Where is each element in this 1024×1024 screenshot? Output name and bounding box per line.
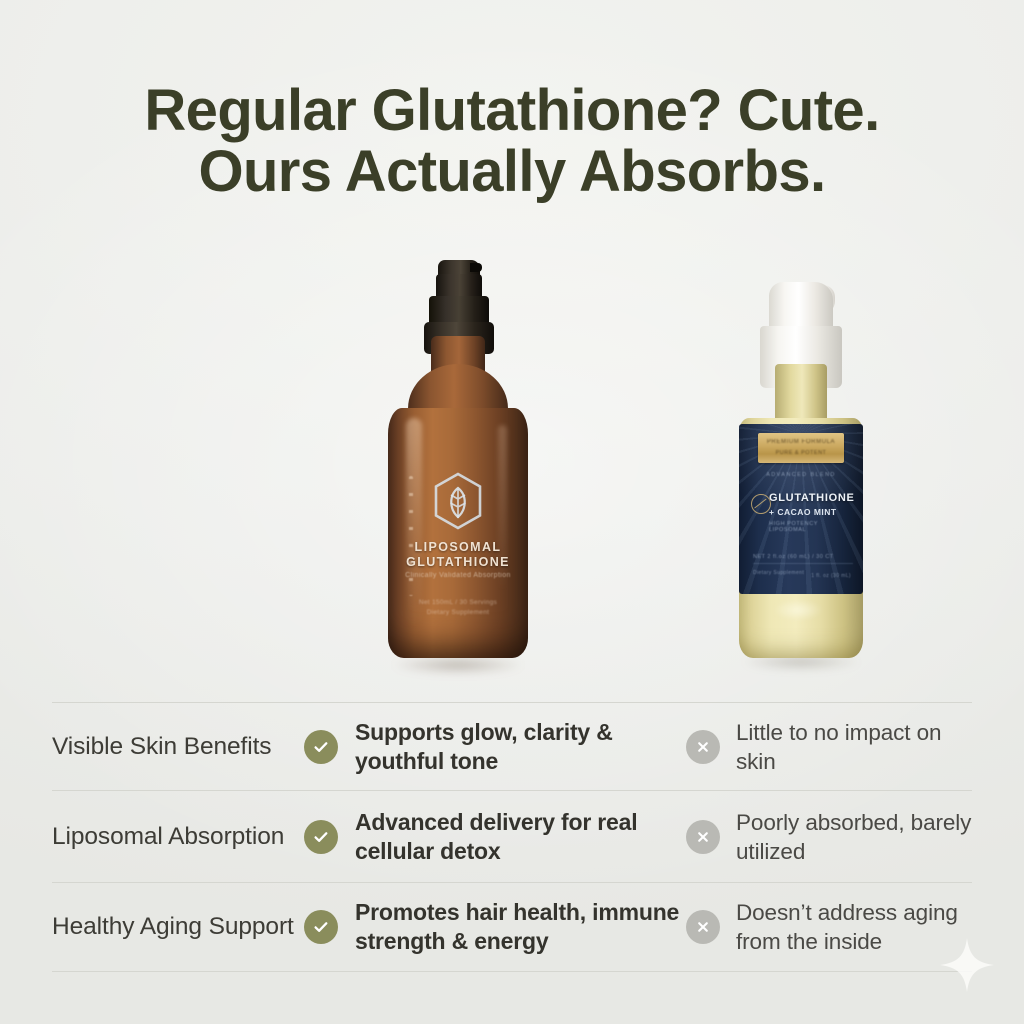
product-name-line2-ours: GLUTATHIONE [406,555,510,569]
theirs-drawback-text: Poorly absorbed, barely utilized [736,808,972,866]
bottle-highlight-right-ours [498,425,507,620]
fineprint-line2-ours: Dietary Supplement [427,609,489,616]
cross-icon [686,820,720,854]
fineprint-line1-ours: Net 150mL / 30 Servings [419,599,497,606]
product-bottle-ours: LIPOSOMAL GLUTATHIONE Clinically Validat… [386,260,530,680]
product-name-line1-ours: LIPOSOMAL [415,540,502,554]
no-symbol-icon [751,494,771,514]
ours-benefit-text: Promotes hair health, immune strength & … [355,898,686,956]
product-fineprint-ours: Net 150mL / 30 Servings Dietary Suppleme… [386,598,530,618]
sparkle-icon [938,936,996,994]
product-fineprint2-theirs: Dietary Supplement [753,570,804,577]
pump-top-theirs [769,282,833,332]
ours-cell: Advanced delivery for real cellular deto… [304,808,686,866]
ours-benefit-text: Supports glow, clarity & youthful tone [355,718,686,776]
product-stage: LIPOSOMAL GLUTATHIONE Clinically Validat… [0,240,1024,680]
product-subtext-theirs: HIGH POTENCY LIPOSOMAL [769,521,857,533]
product-name-theirs: GLUTATHIONE [769,492,857,504]
product-eyebrow-theirs: ADVANCED BLEND [739,472,863,478]
product-label-theirs: PREMIUM FORMULA PURE & POTENT ADVANCED B… [739,424,863,594]
cross-icon [686,730,720,764]
theirs-drawback-text: Little to no impact on skin [736,718,972,776]
product-name-ours: LIPOSOMAL GLUTATHIONE [386,540,530,570]
plaque-line2-theirs: PURE & POTENT [758,450,844,456]
feature-label: Visible Skin Benefits [52,732,304,762]
check-icon [304,730,338,764]
theirs-cell: Little to no impact on skin [686,718,972,776]
liquid-highlight-theirs [763,598,833,628]
table-row: Healthy Aging Support Promotes hair heal… [52,882,972,972]
ours-benefit-text: Advanced delivery for real cellular deto… [355,808,686,866]
cross-icon [686,910,720,944]
theirs-cell: Poorly absorbed, barely utilized [686,808,972,866]
pump-nozzle-lip-ours [470,263,482,272]
product-subtext-ours: Clinically Validated Absorption [386,572,530,579]
gold-plaque-theirs: PREMIUM FORMULA PURE & POTENT [758,433,844,463]
theirs-drawback-text: Doesn’t address aging from the inside [736,898,972,956]
product-name2-theirs: + CACAO MINT [769,507,857,517]
comparison-table: Visible Skin Benefits Supports glow, cla… [52,702,972,972]
table-row: Liposomal Absorption Advanced delivery f… [52,790,972,882]
bottle-neck-theirs [775,364,827,426]
ours-cell: Supports glow, clarity & youthful tone [304,718,686,776]
headline-line-2: Ours Actually Absorbs. [40,141,984,202]
hexagon-leaf-icon [432,472,484,530]
product-bottle-theirs: PREMIUM FORMULA PURE & POTENT ADVANCED B… [733,268,869,678]
check-icon [304,910,338,944]
ours-cell: Promotes hair health, immune strength & … [304,898,686,956]
plaque-line1-theirs: PREMIUM FORMULA [758,439,844,445]
feature-label: Healthy Aging Support [52,912,304,942]
headline-line-1: Regular Glutathione? Cute. [144,78,879,143]
feature-label: Liposomal Absorption [52,822,304,852]
check-icon [304,820,338,854]
product-volume-theirs: 1 fl. oz (30 mL) [811,573,851,579]
theirs-cell: Doesn’t address aging from the inside [686,898,972,956]
page-title: Regular Glutathione? Cute. Ours Actually… [0,80,1024,203]
table-row: Visible Skin Benefits Supports glow, cla… [52,702,972,790]
product-fineprint-theirs: NET 2 fl.oz (60 mL) / 30 CT [753,554,853,564]
